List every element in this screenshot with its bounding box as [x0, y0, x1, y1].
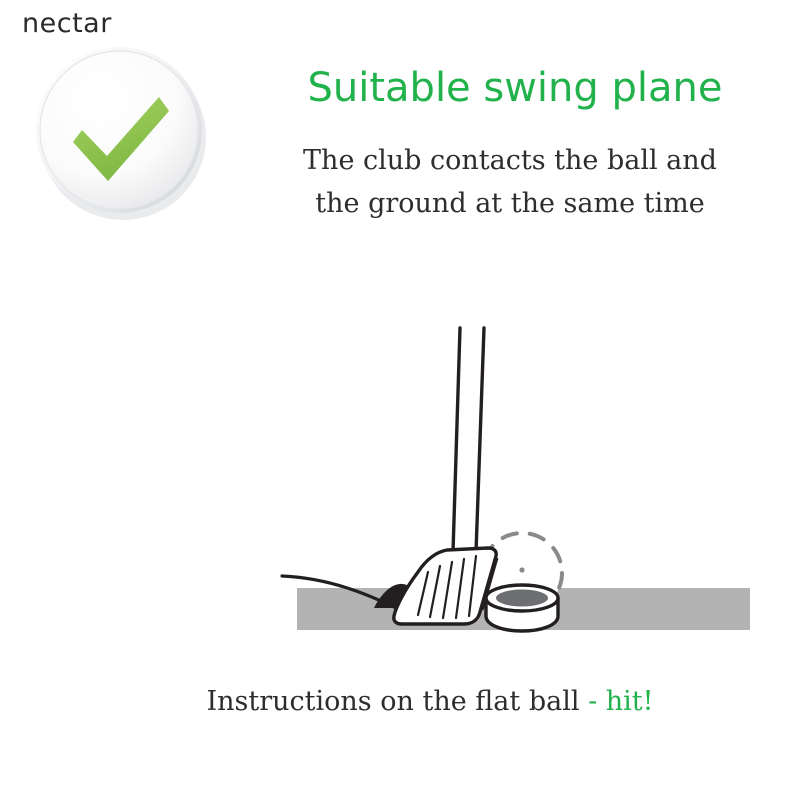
subtitle-line-1: The club contacts the ball and — [303, 145, 717, 176]
check-circle-icon — [28, 38, 212, 222]
subtitle: The club contacts the ball and the groun… — [230, 140, 790, 225]
club-head — [394, 548, 497, 624]
subtitle-line-2: the ground at the same time — [230, 183, 790, 226]
flat-ball — [486, 585, 558, 631]
page-title: Suitable swing plane — [255, 66, 775, 110]
club-shaft — [453, 328, 484, 552]
caption: Instructions on the flat ball - hit! — [150, 686, 710, 717]
golf-club-flat-ball-diagram — [250, 320, 750, 670]
caption-text: Instructions on the flat ball — [207, 686, 580, 717]
caption-accent: - hit! — [588, 686, 653, 717]
watermark-nectar: nectar — [22, 10, 112, 37]
